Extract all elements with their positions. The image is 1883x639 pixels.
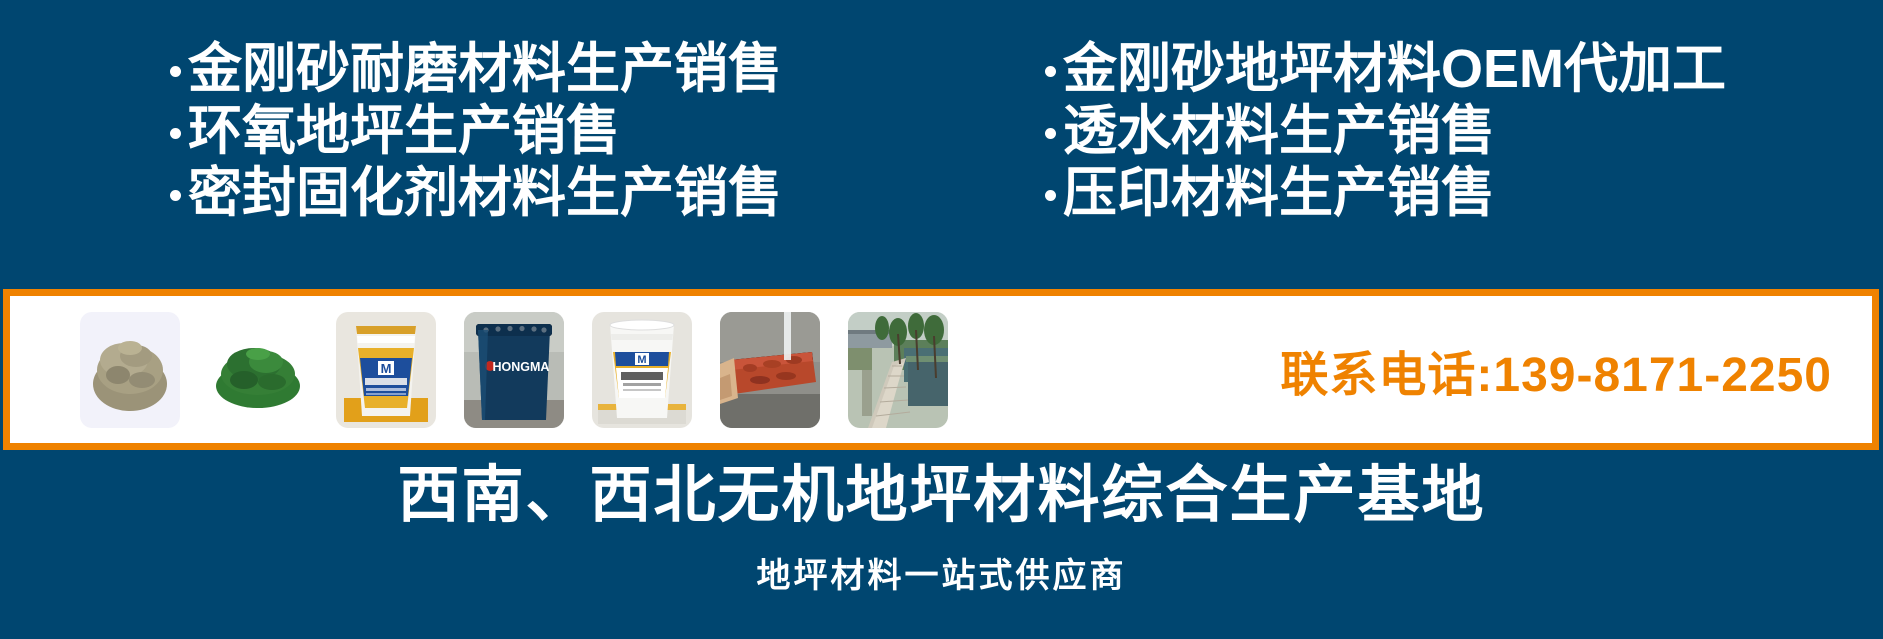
bullet-label: 密封固化剂材料生产销售 <box>188 166 782 220</box>
svg-text:M: M <box>381 361 392 376</box>
bullet-label: 金刚砂耐磨材料生产销售 <box>188 42 782 96</box>
bullet-item-left-1: 金刚砂耐磨材料生产销售 <box>170 38 782 100</box>
bullet-column-left: 金刚砂耐磨材料生产销售 环氧地坪生产销售 密封固化剂材料生产销售 <box>170 38 782 224</box>
contact-phone-text: 联系电话:139-8171-2250 <box>1280 335 1832 405</box>
bullet-item-left-2: 环氧地坪生产销售 <box>170 100 782 162</box>
epoxy-coating-bucket-photo: M <box>592 312 692 428</box>
bullet-label: 压印材料生产销售 <box>1063 166 1495 220</box>
bullet-dot-icon <box>170 66 181 77</box>
headline-section: 西南、西北无机地坪材料综合生产基地 地坪材料一站式供应商 <box>0 450 1883 639</box>
bullet-label: 金刚砂地坪材料OEM代加工 <box>1063 42 1726 96</box>
hongma-drum-photo: HONGMA <box>464 312 564 428</box>
bullet-label: 透水材料生产销售 <box>1063 104 1495 158</box>
bullet-dot-icon <box>1045 66 1056 77</box>
bullet-dot-icon <box>170 128 181 139</box>
sealer-bucket-photo: M <box>336 312 436 428</box>
bullet-dot-icon <box>170 190 181 201</box>
bullet-item-right-2: 透水材料生产销售 <box>1045 100 1726 162</box>
svg-text:M: M <box>637 354 646 366</box>
headline-main-title: 西南、西北无机地坪材料综合生产基地 <box>397 462 1485 530</box>
bullet-dot-icon <box>1045 128 1056 139</box>
feature-bullets-section: 金刚砂耐磨材料生产销售 环氧地坪生产销售 密封固化剂材料生产销售 金刚砂地坪材料… <box>0 0 1883 285</box>
gray-abrasive-powder-photo <box>80 312 180 428</box>
bullet-item-right-3: 压印材料生产销售 <box>1045 162 1726 224</box>
product-thumbnail-strip: M HONGMA <box>80 312 948 428</box>
bullet-item-right-1: 金刚砂地坪材料OEM代加工 <box>1045 38 1726 100</box>
bullet-label: 环氧地坪生产销售 <box>188 104 620 158</box>
product-showcase-panel: M HONGMA <box>3 289 1879 450</box>
stamped-concrete-path-photo <box>848 312 948 428</box>
bullet-column-right: 金刚砂地坪材料OEM代加工 透水材料生产销售 压印材料生产销售 <box>1045 38 1726 224</box>
contact-phone: 联系电话:139-8171-2250 <box>1280 335 1832 405</box>
bullet-dot-icon <box>1045 190 1056 201</box>
svg-text:HONGMA: HONGMA <box>493 360 550 374</box>
headline-subtitle: 地坪材料一站式供应商 <box>757 548 1127 597</box>
bullet-item-left-3: 密封固化剂材料生产销售 <box>170 162 782 224</box>
green-abrasive-powder-photo <box>208 312 308 428</box>
red-permeable-concrete-photo <box>720 312 820 428</box>
